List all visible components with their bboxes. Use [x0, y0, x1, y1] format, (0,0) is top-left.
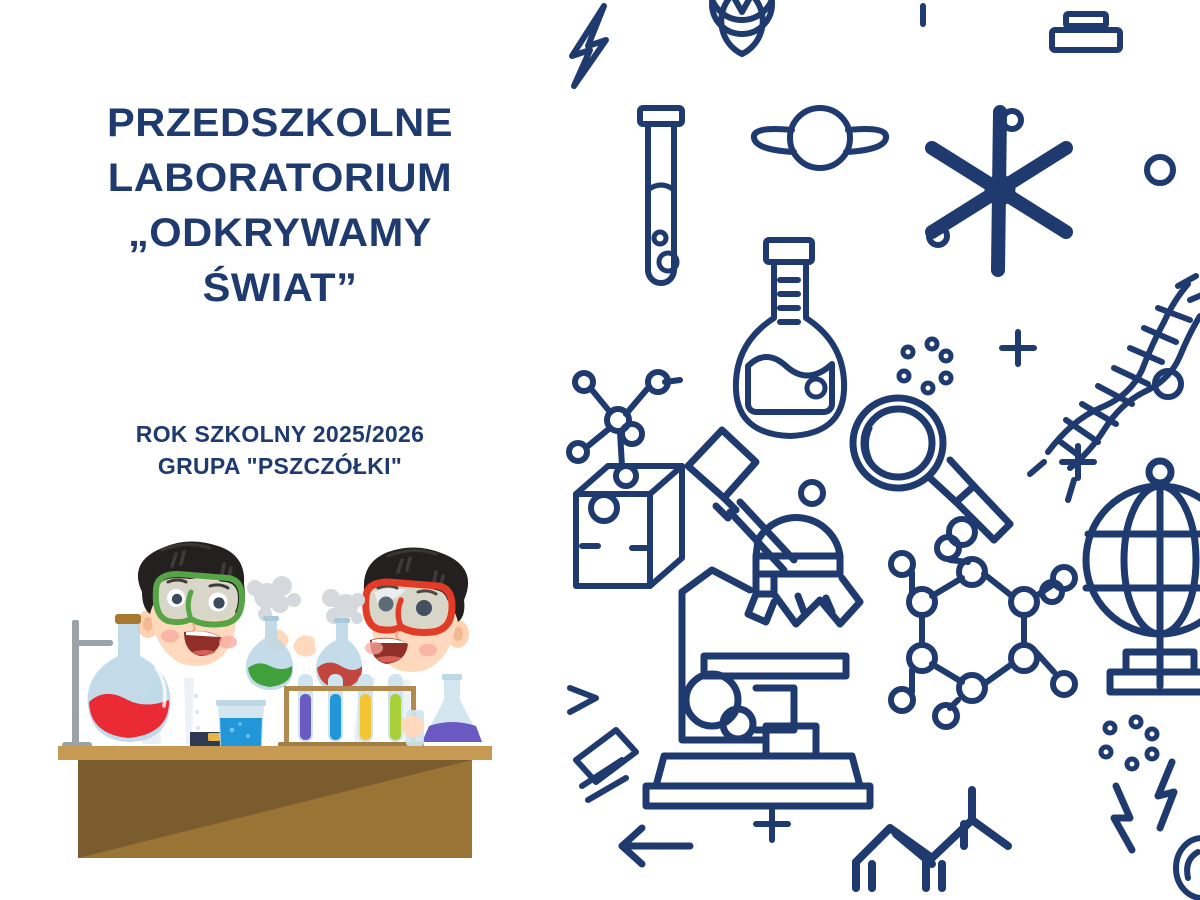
- atom-icon: [929, 111, 1066, 270]
- spiral-circle-icon: [1176, 838, 1200, 898]
- globe-icon: [1086, 461, 1200, 692]
- small-circle-icon-3: [591, 495, 617, 521]
- subtitle-line-group: GRUPA "PSZCZÓŁKI": [0, 450, 560, 482]
- title-line-2: LABORATORIUM: [0, 151, 571, 206]
- magnifier-top-icon: [710, 0, 774, 54]
- saturn-planet-icon: [754, 108, 886, 168]
- subtitle-line-school-year: ROK SZKOLNY 2025/2026: [0, 418, 560, 450]
- science-icons-pattern: [560, 0, 1200, 900]
- dot-cluster-icon-2: [1101, 717, 1157, 769]
- title-line-4: ŚWIAT”: [0, 261, 571, 316]
- kids-scientists-illustration: [58, 528, 548, 873]
- title-line-1: PRZEDSZKOLNE: [0, 96, 571, 151]
- lightning-bolt-icon: [572, 6, 606, 86]
- chevron-icon: [570, 688, 596, 712]
- small-circle-icon: [1147, 157, 1173, 183]
- beaker-blue: [216, 700, 266, 746]
- left-text-panel: PRZEDSZKOLNE LABORATORIUM „ODKRYWAMY ŚWI…: [0, 0, 560, 900]
- benzene-molecule-icon: [891, 537, 1075, 727]
- round-flask-icon: [736, 240, 844, 436]
- small-circle-icon-5: [801, 482, 823, 504]
- title-line-3: „ODKRYWAMY: [0, 206, 571, 261]
- smoke-puffs: [247, 576, 301, 621]
- microscope-stage-icon: [1052, 14, 1120, 50]
- page-title: PRZEDSZKOLNE LABORATORIUM „ODKRYWAMY ŚWI…: [0, 96, 560, 316]
- skeletal-formula-icon: [856, 790, 1008, 888]
- lab-desk: [58, 746, 492, 858]
- slides-icon: [576, 730, 636, 800]
- poster-root: PRZEDSZKOLNE LABORATORIUM „ODKRYWAMY ŚWI…: [0, 0, 1200, 900]
- subtitle: ROK SZKOLNY 2025/2026 GRUPA "PSZCZÓŁKI": [0, 418, 560, 482]
- magnifying-glass-icon: [853, 398, 1010, 540]
- dna-helix-icon: [1030, 276, 1200, 500]
- plus-icon-3: [756, 808, 788, 840]
- plus-icon: [1002, 332, 1034, 364]
- dot-cluster-icon: [899, 339, 951, 393]
- erlenmeyer-flask-green: [246, 616, 293, 690]
- test-tube-icon: [640, 108, 682, 283]
- arrow-left-icon: [622, 828, 690, 864]
- small-circle-icon-4: [808, 400, 809, 401]
